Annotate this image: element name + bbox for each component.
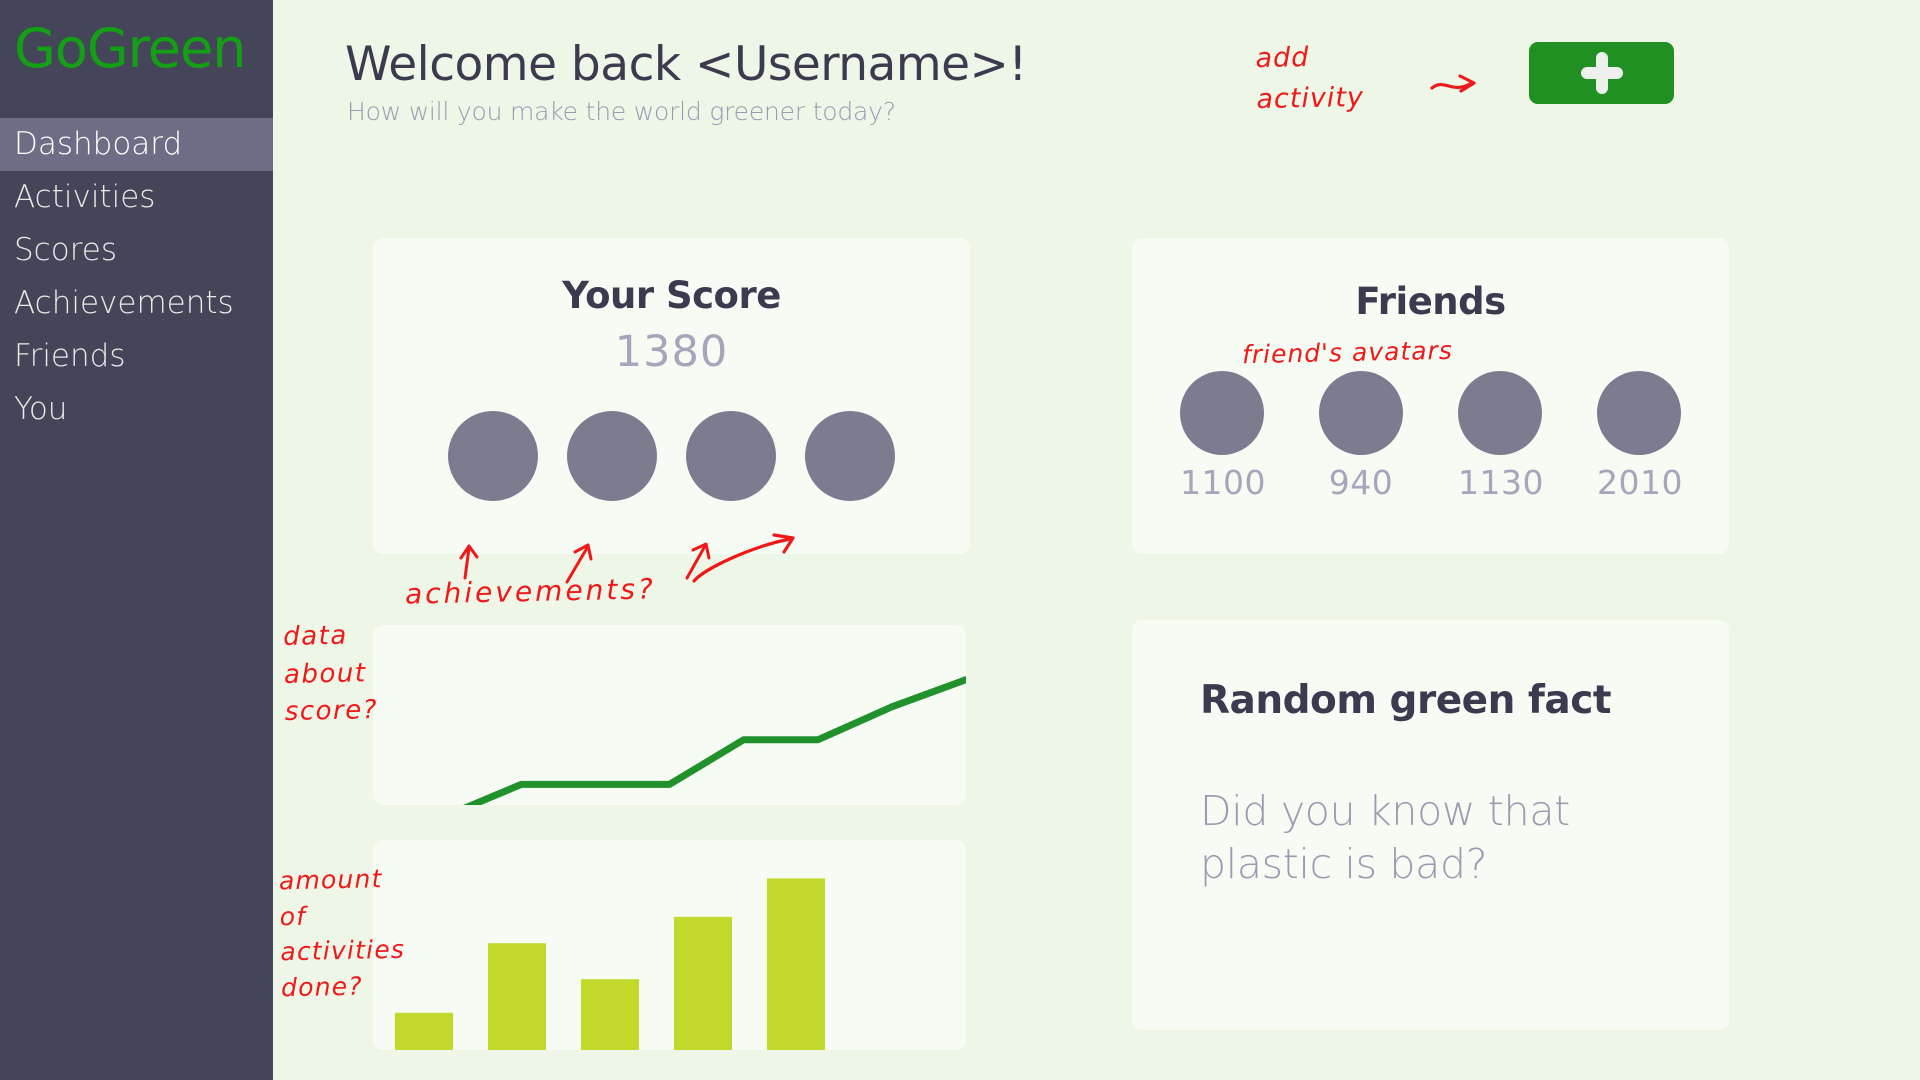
sidebar-nav: Dashboard Activities Scores Achievements… xyxy=(0,118,273,436)
random-green-fact-card: Random green fact Did you know that plas… xyxy=(1132,620,1729,1030)
friends-card-title: Friends xyxy=(1132,280,1729,323)
page-subtitle: How will you make the world greener toda… xyxy=(347,97,1027,126)
sidebar: GoGreen Dashboard Activities Scores Achi… xyxy=(0,0,273,1080)
friend-avatar-2[interactable] xyxy=(1319,371,1403,455)
achievement-badge-4[interactable] xyxy=(805,411,895,501)
fact-card-body: Did you know that plastic is bad? xyxy=(1200,785,1670,892)
sidebar-item-achievements[interactable]: Achievements xyxy=(0,277,273,330)
main-content: Welcome back <Username>! How will you ma… xyxy=(273,0,1920,1080)
friend-score-2: 940 xyxy=(1319,463,1403,502)
activities-bar-chart xyxy=(373,840,966,1050)
achievement-badge-row xyxy=(373,411,970,501)
score-line-chart xyxy=(373,625,966,805)
friend-avatar-3[interactable] xyxy=(1458,371,1542,455)
score-card-title: Your Score xyxy=(373,274,970,317)
bar-3 xyxy=(581,979,639,1050)
bar-4 xyxy=(674,917,732,1050)
page-title: Welcome back <Username>! xyxy=(345,40,1027,89)
app-root: GoGreen Dashboard Activities Scores Achi… xyxy=(0,0,1920,1080)
friend-avatar-4[interactable] xyxy=(1597,371,1681,455)
score-line-chart-card xyxy=(373,625,966,805)
achievement-badge-2[interactable] xyxy=(567,411,657,501)
friend-score-row: 1100 940 1130 2010 xyxy=(1132,463,1729,502)
score-value: 1380 xyxy=(373,327,970,377)
friend-score-1: 1100 xyxy=(1180,463,1264,502)
sidebar-item-activities[interactable]: Activities xyxy=(0,171,273,224)
achievement-badge-1[interactable] xyxy=(448,411,538,501)
your-score-card: Your Score 1380 xyxy=(373,238,970,554)
friend-score-4: 2010 xyxy=(1597,463,1681,502)
friends-card: Friends 1100 940 1130 2010 xyxy=(1132,238,1729,554)
sidebar-item-you[interactable]: You xyxy=(0,383,273,436)
friend-score-3: 1130 xyxy=(1458,463,1542,502)
sidebar-item-dashboard[interactable]: Dashboard xyxy=(0,118,273,171)
bar-2 xyxy=(488,943,546,1050)
achievement-badge-3[interactable] xyxy=(686,411,776,501)
bar-5 xyxy=(767,878,825,1050)
sidebar-item-scores[interactable]: Scores xyxy=(0,224,273,277)
sidebar-item-friends[interactable]: Friends xyxy=(0,330,273,383)
friend-avatar-row xyxy=(1132,371,1729,455)
activities-bar-chart-card xyxy=(373,840,966,1050)
app-logo-text[interactable]: GoGreen xyxy=(0,0,273,76)
add-activity-button[interactable] xyxy=(1529,42,1674,104)
bar-1 xyxy=(395,1013,453,1050)
plus-icon xyxy=(1581,52,1623,94)
fact-card-title: Random green fact xyxy=(1200,678,1729,723)
friend-avatar-1[interactable] xyxy=(1180,371,1264,455)
page-header: Welcome back <Username>! How will you ma… xyxy=(345,40,1027,126)
